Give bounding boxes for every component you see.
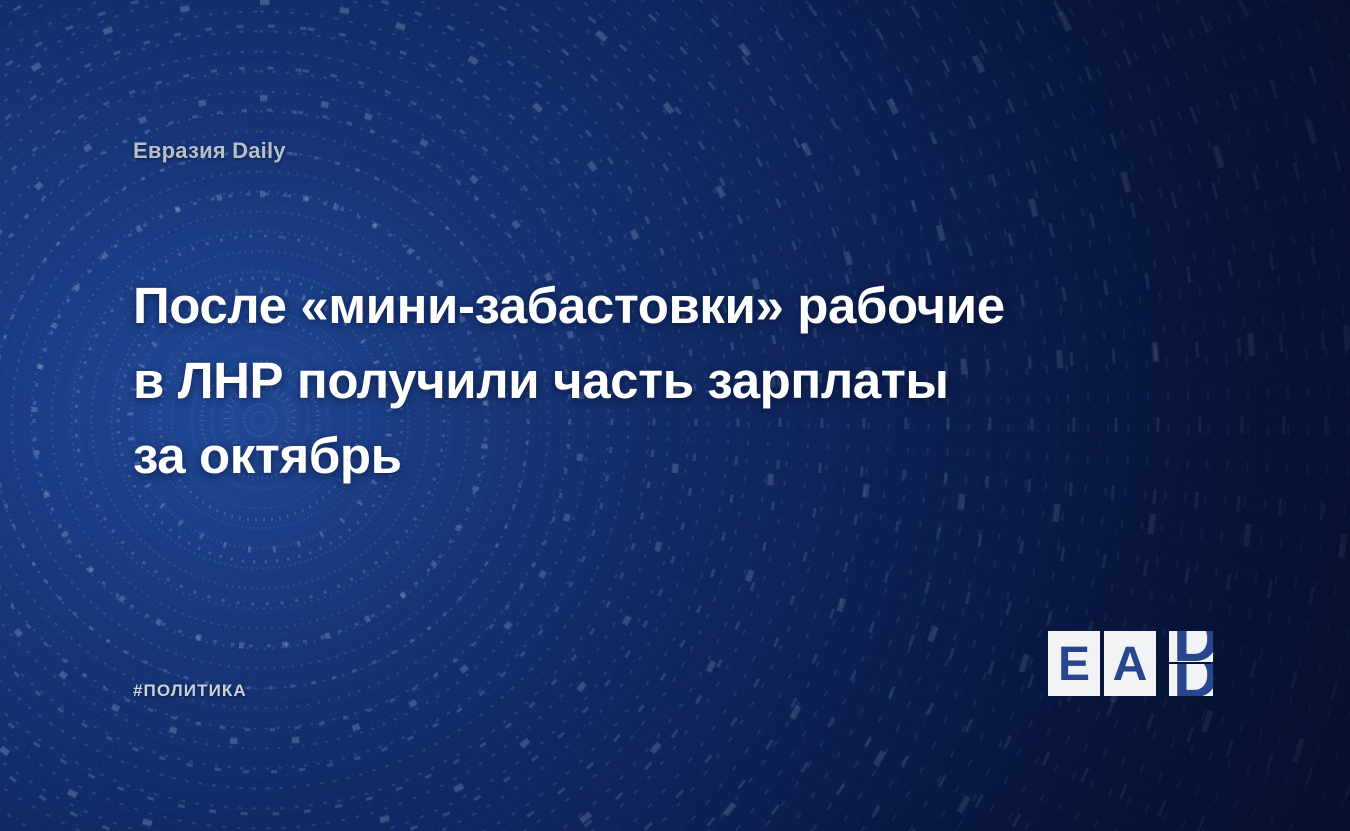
logo-letter-a: A — [1113, 638, 1148, 691]
headline-line-3: за октябрь — [133, 418, 1083, 493]
category-hashtag: #ПОЛИТИКА — [133, 681, 247, 701]
card-content: Евразия Daily После «мини-забастовки» ра… — [0, 0, 1350, 831]
headline-line-2: в ЛНР получили часть зарплаты — [133, 343, 1083, 418]
page-title: После «мини-забастовки» рабочие в ЛНР по… — [133, 268, 1083, 493]
brand-name: Евразия Daily — [133, 138, 286, 164]
logo-letter-e: E — [1058, 638, 1090, 691]
eadaily-logo: E A D D — [1048, 631, 1226, 696]
eadaily-logo-svg: E A D D — [1048, 631, 1226, 696]
headline-line-1: После «мини-забастовки» рабочие — [133, 268, 1083, 343]
share-card: Евразия Daily После «мини-забастовки» ра… — [0, 0, 1350, 831]
